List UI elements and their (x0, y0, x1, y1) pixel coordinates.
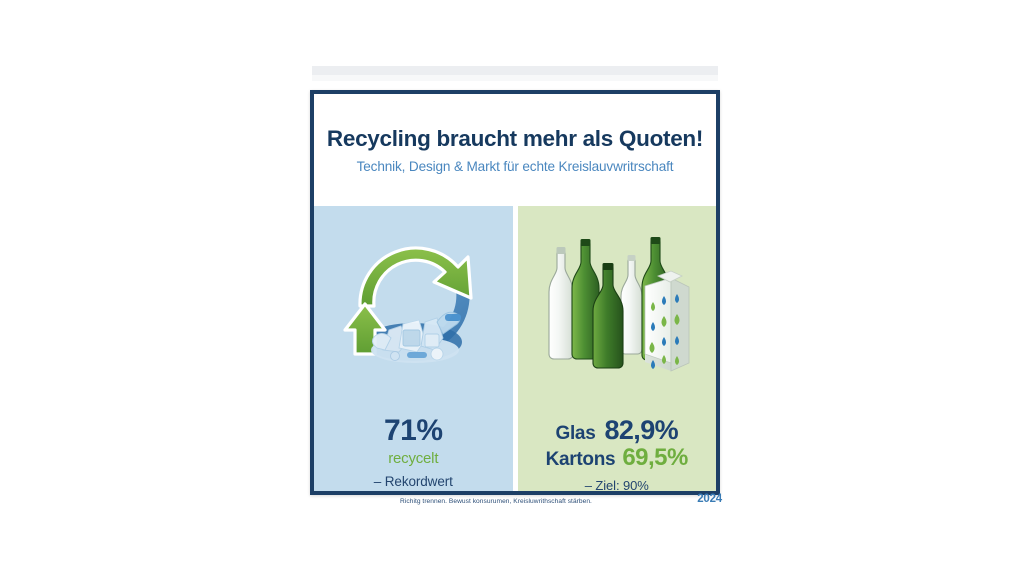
panel-plastic-recycling: 71% recycelt – Rekordwert (314, 206, 513, 491)
bottle-clear-small (621, 255, 642, 354)
poster-card: Recycling braucht mehr als Quoten! Techn… (310, 90, 720, 495)
poster-footer: Richitg trennen. Bewust konsurumen, Krei… (310, 495, 720, 513)
bottles-illustration (518, 206, 717, 396)
recycling-arrows-icon (337, 226, 489, 376)
kartons-value: 69,5% (622, 445, 688, 470)
stat-row-glass: Glas 82,9% (555, 416, 678, 444)
plastic-record-note: – Rekordwert (374, 474, 453, 489)
glass-label: Glas (555, 424, 595, 444)
poster-subtitle: Technik, Design & Markt für echte Kreisl… (357, 159, 674, 174)
plastic-recycled-label: recycelt (388, 450, 438, 467)
panels-container: 71% recycelt – Rekordwert (314, 206, 716, 491)
stat-row-kartons: Kartons 69,5% (546, 445, 688, 470)
infographic-poster: Recycling braucht mehr als Quoten! Techn… (310, 66, 720, 511)
recycling-illustration (314, 206, 513, 396)
glass-value: 82,9% (604, 416, 678, 444)
plastic-stats: 71% recycelt – Rekordwert (314, 396, 513, 491)
bottle-clear-back (549, 247, 573, 359)
panel-glass-carton: Glas 82,9% Kartons 69,5% – Ziel: 90% (518, 206, 717, 491)
goal-note: – Ziel: 90% (585, 478, 649, 493)
top-accent-strip (312, 66, 718, 75)
poster-header: Recycling braucht mehr als Quoten! Techn… (314, 94, 716, 206)
footer-year: 2024 (697, 493, 722, 505)
poster-canvas: Recycling braucht mehr als Quoten! Techn… (0, 0, 1030, 562)
plastic-recycled-value: 71% (384, 416, 443, 447)
top-accent-strip-secondary (312, 75, 718, 81)
kartons-label: Kartons (546, 450, 616, 470)
glass-bottles-and-carton-icon (533, 226, 701, 376)
beverage-carton (645, 271, 689, 371)
poster-title: Recycling braucht mehr als Quoten! (327, 126, 703, 152)
footer-slogan: Richitg trennen. Bewust konsurumen, Krei… (310, 498, 682, 505)
glass-carton-stats: Glas 82,9% Kartons 69,5% – Ziel: 90% (518, 396, 717, 493)
